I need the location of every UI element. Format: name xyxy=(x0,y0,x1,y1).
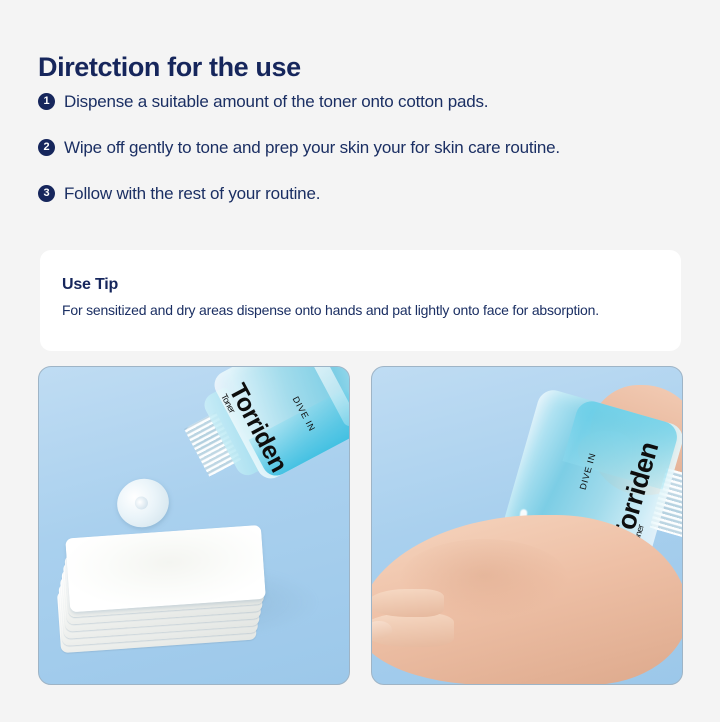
step-number-badge: 2 xyxy=(38,139,55,156)
photo-toner-dispensed-onto-hand: Toner Torriden DIVE IN xyxy=(371,366,683,685)
use-tip-title: Use Tip xyxy=(62,276,659,294)
bottle-cap xyxy=(111,472,175,534)
use-tip-card: Use Tip For sensitized and dry areas dis… xyxy=(40,250,681,351)
finger xyxy=(371,589,444,617)
step-number-badge: 3 xyxy=(38,185,55,202)
photo-toner-bottle-with-cotton-pads: Toner Torriden DIVE IN xyxy=(38,366,350,685)
step-text: Dispense a suitable amount of the toner … xyxy=(64,90,488,113)
cotton-pad-stack xyxy=(51,525,271,655)
product-photo-row: Toner Torriden DIVE IN xyxy=(38,366,683,683)
cotton-pad-top xyxy=(65,525,266,612)
step-text: Wipe off gently to tone and prep your sk… xyxy=(64,136,560,159)
step-item: 1 Dispense a suitable amount of the tone… xyxy=(38,90,688,136)
step-item: 3 Follow with the rest of your routine. xyxy=(38,182,688,228)
step-item: 2 Wipe off gently to tone and prep your … xyxy=(38,136,688,182)
step-text: Follow with the rest of your routine. xyxy=(64,182,320,205)
steps-list: 1 Dispense a suitable amount of the tone… xyxy=(38,90,688,228)
step-number-badge: 1 xyxy=(38,93,55,110)
toner-bottle: Toner Torriden DIVE IN xyxy=(164,366,350,508)
page-title: Diretction for the use xyxy=(38,52,301,83)
directions-page: Diretction for the use 1 Dispense a suit… xyxy=(0,0,720,722)
open-palm xyxy=(371,515,683,685)
use-tip-body: For sensitized and dry areas dispense on… xyxy=(62,301,659,320)
